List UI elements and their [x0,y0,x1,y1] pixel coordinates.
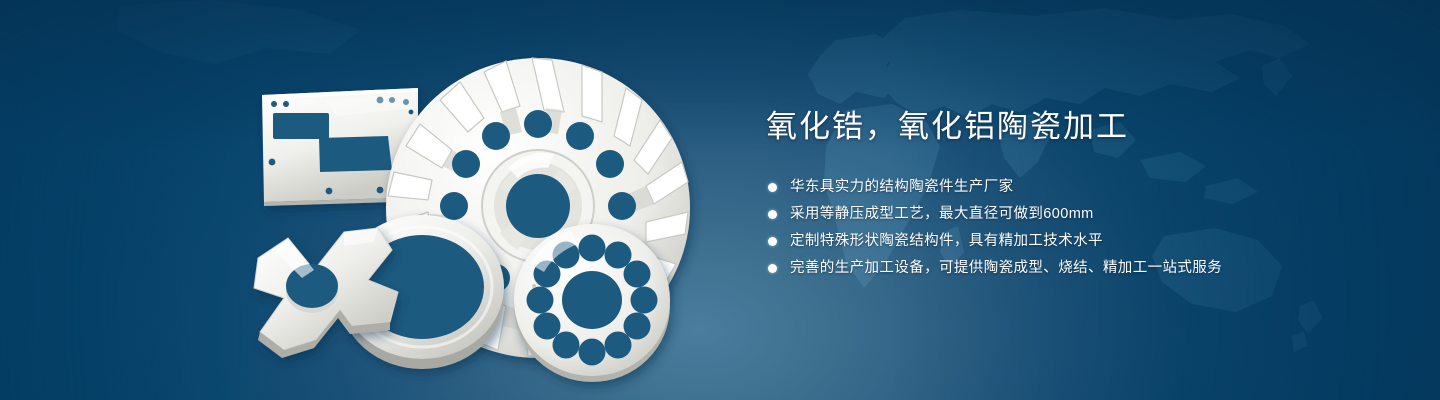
page-title: 氧化锆，氧化铝陶瓷加工 [766,108,1386,147]
list-item: 定制特殊形状陶瓷结构件，具有精加工技术水平 [766,231,1386,252]
ceramic-perforated-disc-part [514,224,670,382]
list-item-label: 定制特殊形状陶瓷结构件，具有精加工技术水平 [790,233,1103,249]
list-item: 采用等静压成型工艺，最大直径可做到600mm [766,204,1386,225]
bullet-dot-icon [768,210,777,219]
list-item-label: 采用等静压成型工艺，最大直径可做到600mm [790,206,1094,222]
bullet-dot-icon [768,264,777,273]
bullet-dot-icon [768,237,777,246]
list-item: 华东具实力的结构陶瓷件生产厂家 [766,177,1386,198]
list-item-label: 完善的生产加工设备，可提供陶瓷成型、烧结、精加工一站式服务 [790,260,1222,276]
feature-list: 华东具实力的结构陶瓷件生产厂家 采用等静压成型工艺，最大直径可做到600mm 定… [766,177,1386,279]
list-item: 完善的生产加工设备，可提供陶瓷成型、烧结、精加工一站式服务 [766,258,1386,279]
product-photo-group [240,40,710,380]
list-item-label: 华东具实力的结构陶瓷件生产厂家 [790,179,1014,195]
bullet-dot-icon [768,183,777,192]
hero-banner: 氧化锆，氧化铝陶瓷加工 华东具实力的结构陶瓷件生产厂家 采用等静压成型工艺，最大… [0,0,1440,400]
banner-copy: 氧化锆，氧化铝陶瓷加工 华东具实力的结构陶瓷件生产厂家 采用等静压成型工艺，最大… [766,108,1386,285]
